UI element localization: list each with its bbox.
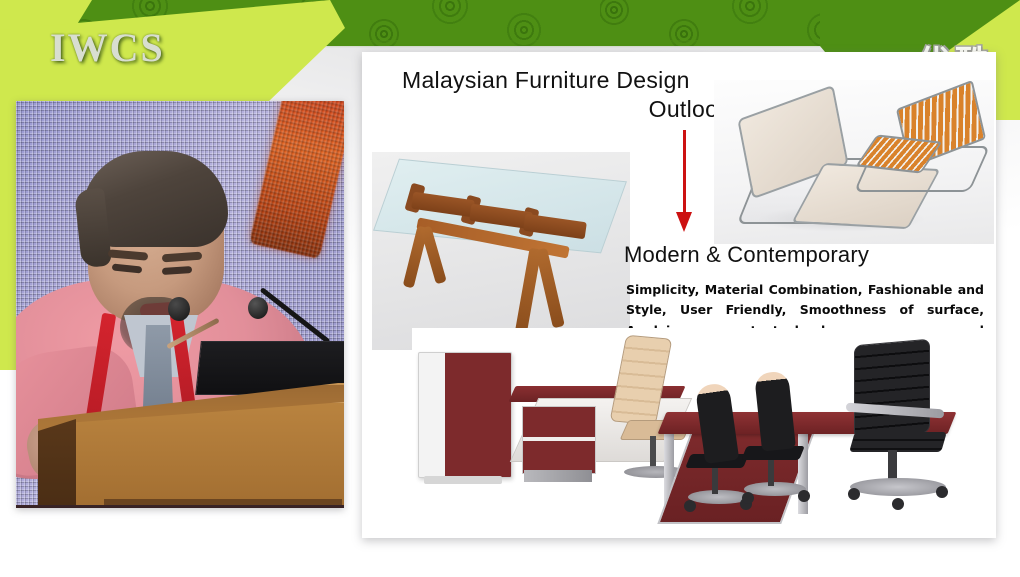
image-glass-dining-table <box>372 152 630 350</box>
black-chair-2-backrest <box>754 370 796 451</box>
black-chair-2-caster <box>742 492 754 504</box>
stage-floor <box>16 505 344 508</box>
desk-pedestal-base <box>524 470 592 482</box>
down-arrow-icon <box>676 212 692 232</box>
table-leg-4 <box>535 248 565 329</box>
microphone-head-left <box>168 297 190 321</box>
black-chair-2-caster <box>798 490 810 502</box>
black-chair-1-caster <box>684 500 696 512</box>
black-chair-1-post <box>712 464 718 494</box>
slide-title: Malaysian Furniture Design Outlook <box>402 66 752 123</box>
office-cabinet <box>418 352 512 478</box>
executive-chair-caster <box>936 486 948 498</box>
down-arrow-shaft <box>683 130 686 218</box>
executive-chair-caster <box>892 498 904 510</box>
slide-title-line-2: Outlook <box>402 95 752 124</box>
executive-chair-backrest <box>854 339 930 440</box>
black-chair-2-post <box>768 456 774 486</box>
slide-subheading: Modern & Contemporary <box>624 242 869 268</box>
image-lounge-chairs <box>714 80 994 244</box>
beige-chair-post <box>650 436 656 470</box>
executive-chair-seat <box>849 432 947 452</box>
screen: IWCS 优酷 Mal <box>0 0 1020 577</box>
conference-logo: IWCS <box>50 24 165 71</box>
microphone-head-right <box>248 297 268 319</box>
office-cabinet-base <box>424 476 502 484</box>
executive-chair-base <box>850 478 946 496</box>
image-office-furniture <box>412 328 984 528</box>
presentation-slide-panel[interactable]: Malaysian Furniture Design Outlook <box>362 52 996 538</box>
slide-title-line-1: Malaysian Furniture Design <box>402 67 690 93</box>
speaker-video-panel[interactable] <box>16 101 344 508</box>
executive-chair-caster <box>848 488 860 500</box>
desk-pedestal-drawers <box>522 406 596 474</box>
black-chair-2-base <box>744 482 806 496</box>
